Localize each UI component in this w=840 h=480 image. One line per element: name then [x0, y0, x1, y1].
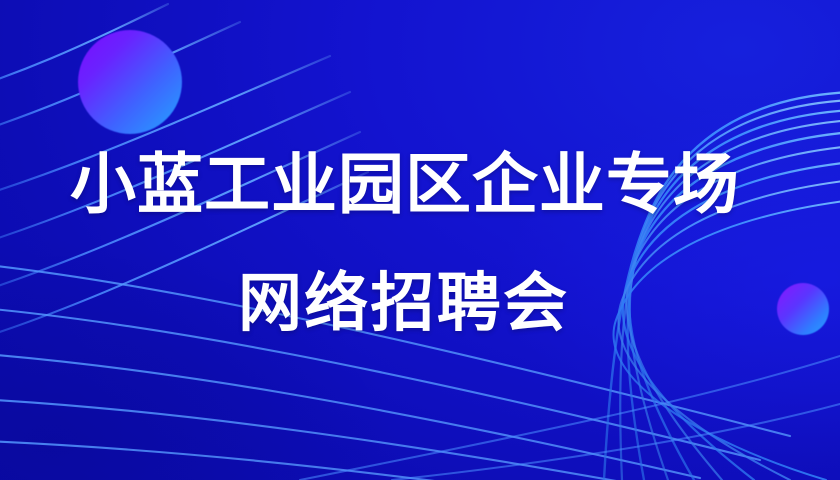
recruitment-banner: 小蓝工业园区企业专场 网络招聘会 [0, 0, 840, 480]
headline-block: 小蓝工业园区企业专场 网络招聘会 [0, 0, 840, 480]
headline-primary: 小蓝工业园区企业专场 [70, 148, 740, 220]
headline-secondary: 网络招聘会 [238, 268, 569, 338]
